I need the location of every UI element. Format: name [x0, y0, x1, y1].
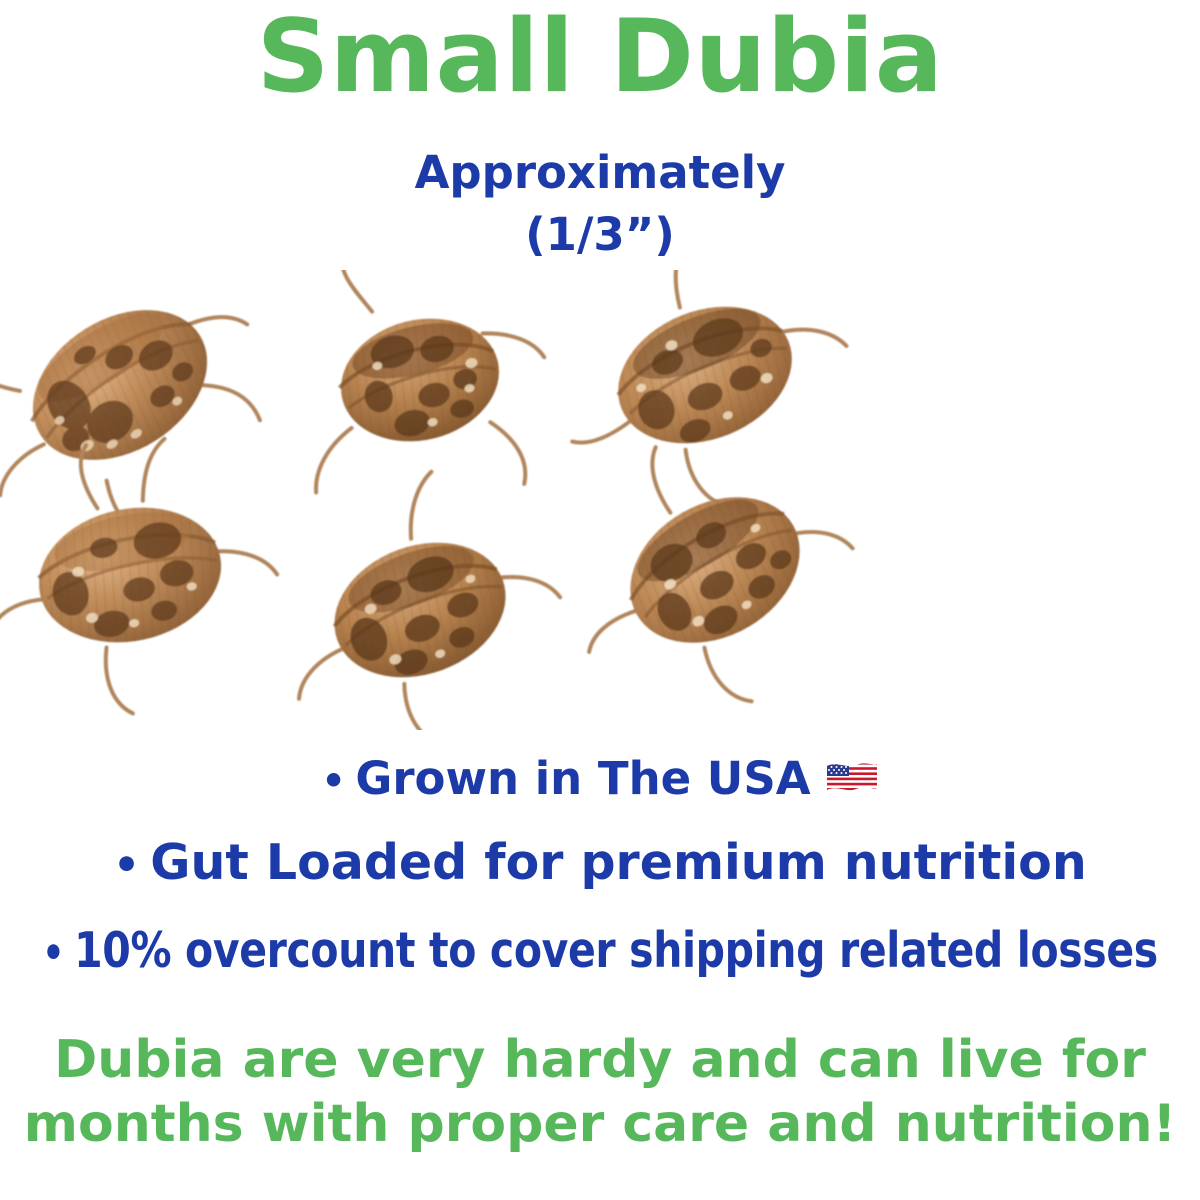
dubia-roach-group-image: [0, 270, 1200, 730]
care-note: Dubia are very hardy and can live for mo…: [0, 1028, 1200, 1157]
bullet-item-gut-loaded: • Gut Loaded for premium nutrition: [0, 834, 1200, 922]
subtitle-line-1: Approximately: [0, 142, 1200, 204]
feature-bullet-list: • Grown in The USA: [0, 752, 1200, 1004]
us-flag-svg: [825, 760, 879, 798]
dubia-roaches-svg: [0, 270, 1200, 730]
bullet-item-overcount: • 10% overcount to cover shipping relate…: [42, 922, 1158, 1004]
size-subtitle: Approximately (1/3”): [0, 142, 1200, 266]
page-title: Small Dubia: [0, 2, 1200, 111]
bullet-marker-icon: •: [113, 844, 140, 886]
us-flag-icon: [825, 756, 879, 809]
product-info-card: Small Dubia Approximately (1/3”): [0, 0, 1200, 1200]
care-note-line-2: months with proper care and nutrition!: [0, 1092, 1200, 1156]
care-note-line-1: Dubia are very hardy and can live for: [0, 1028, 1200, 1092]
subtitle-line-2: (1/3”): [0, 204, 1200, 266]
bullet-label: 10% overcount to cover shipping related …: [74, 922, 1158, 979]
bullet-marker-icon: •: [42, 932, 64, 974]
bullet-label: Gut Loaded for premium nutrition: [150, 834, 1086, 891]
bullet-marker-icon: •: [321, 763, 345, 801]
product-photo: [0, 270, 1200, 730]
bullet-item-grown-in-usa: • Grown in The USA: [0, 752, 1200, 834]
bullet-label: Grown in The USA: [355, 752, 810, 805]
